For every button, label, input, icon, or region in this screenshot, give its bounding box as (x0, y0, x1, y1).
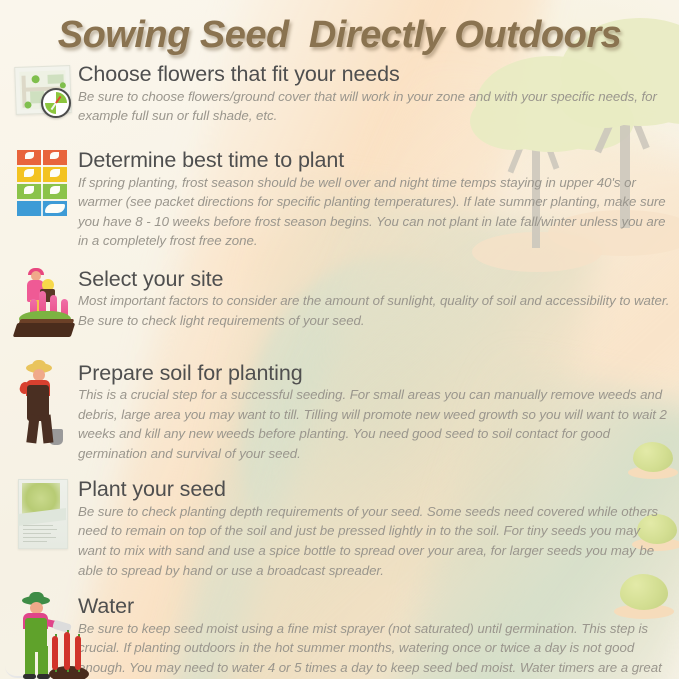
step-text-block: Prepare soil for planting This is a cruc… (78, 361, 679, 464)
gardener-head-shape (33, 369, 45, 381)
gardener-leg-shape (41, 414, 54, 443)
step-item-water: Water Be sure to keep seed moist using a… (0, 594, 679, 679)
step-description: This is a crucial step for a successful … (78, 385, 671, 463)
seed-packet-text-line (23, 533, 51, 534)
gardener-leg-shape (38, 646, 48, 676)
step-text-block: Select your site Most important factors … (78, 267, 679, 331)
step-description: If spring planting, frost season should … (78, 173, 671, 251)
step-icon-container (0, 148, 78, 220)
step-title: Choose flowers that fit your needs (78, 63, 671, 86)
four-seasons-icon (9, 148, 75, 220)
planter-box-shape (13, 323, 76, 337)
red-flower-spike-shape (64, 632, 70, 670)
step-item-select-site: Select your site Most important factors … (0, 267, 679, 345)
seed-packet-icon (9, 477, 75, 557)
step-item-plant-seed: Plant your seed Be sure to check plantin… (0, 477, 679, 580)
step-text-block: Water Be sure to keep seed moist using a… (78, 594, 679, 679)
step-item-choose-flowers: Choose flowers that fit your needs Be su… (0, 62, 679, 134)
flower-planter-icon (9, 267, 79, 345)
step-title: Plant your seed (78, 478, 671, 501)
gardener-shoe-shape (37, 674, 50, 679)
steps-list: Choose flowers that fit your needs Be su… (0, 62, 679, 679)
season-leaf-icon (24, 169, 34, 177)
step-description: Be sure to check planting depth requirem… (78, 502, 671, 580)
step-text-block: Plant your seed Be sure to check plantin… (78, 477, 679, 580)
seed-packet-text-line (23, 525, 53, 526)
step-description: Be sure to choose flowers/ground cover t… (78, 87, 671, 126)
gardener-watering-icon (9, 594, 83, 679)
seed-packet-text-line (23, 541, 47, 542)
step-description: Most important factors to consider are t… (78, 291, 671, 330)
season-leaf-icon (24, 186, 34, 194)
step-title: Select your site (78, 268, 671, 291)
garden-plan-map-icon (9, 62, 75, 122)
step-item-prepare-soil: Prepare soil for planting This is a cruc… (0, 361, 679, 464)
step-description: Be sure to keep seed moist using a fine … (78, 619, 671, 679)
step-icon-container (0, 594, 78, 679)
step-icon-container (0, 361, 78, 453)
gardener-shoe-shape (23, 674, 36, 679)
step-text-block: Choose flowers that fit your needs Be su… (78, 62, 679, 126)
infographic-poster: Sowing Seed Directly Outdoors (0, 0, 679, 679)
compass-icon (41, 88, 71, 118)
red-flower-spike-shape (52, 636, 58, 670)
step-icon-container (0, 477, 78, 557)
step-item-determine-time: Determine best time to plant If spring p… (0, 148, 679, 251)
step-text-block: Determine best time to plant If spring p… (78, 148, 679, 251)
season-leaf-icon (50, 169, 60, 177)
seed-packet-text-line (23, 529, 57, 530)
season-leaf-icon (50, 152, 59, 159)
step-title: Water (78, 595, 671, 618)
step-title: Determine best time to plant (78, 149, 671, 172)
gardener-leg-shape (26, 414, 39, 443)
gardener-with-shovel-icon (9, 361, 75, 453)
step-icon-container (0, 267, 78, 345)
step-title: Prepare soil for planting (78, 362, 671, 385)
season-leaf-icon (25, 152, 34, 159)
red-flower-spike-shape (75, 636, 81, 670)
seed-packet-text-line (23, 537, 56, 538)
page-title: Sowing Seed Directly Outdoors (0, 14, 679, 57)
step-icon-container (0, 62, 78, 134)
gardener-leg-shape (25, 646, 35, 676)
season-leaf-icon (50, 186, 60, 194)
